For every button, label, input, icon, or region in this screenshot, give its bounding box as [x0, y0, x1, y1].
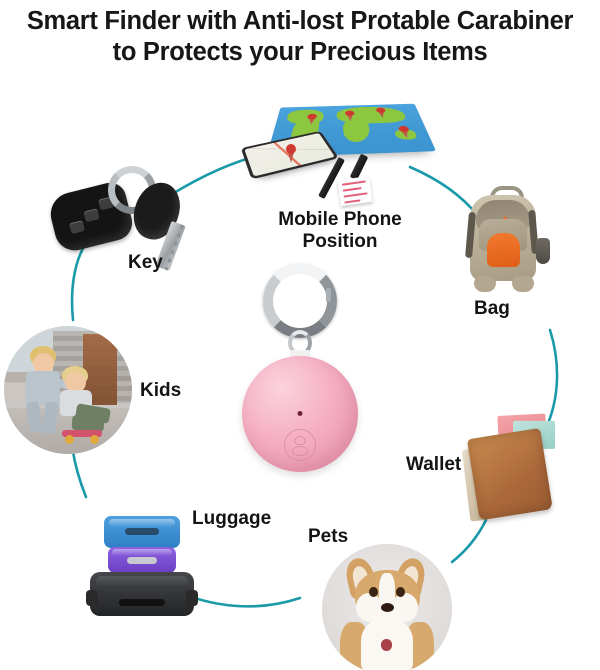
suitcase-purple — [108, 547, 176, 573]
label-line-1: Mobile Phone — [278, 209, 402, 230]
wallet-body — [467, 428, 553, 521]
case-sheen — [109, 519, 176, 527]
tracker-body — [242, 356, 358, 472]
case-handle — [125, 528, 158, 535]
skateboard-wheel — [90, 435, 99, 444]
case-sheen — [96, 576, 188, 587]
label-luggage: Luggage — [192, 508, 271, 530]
case-handle — [127, 557, 157, 564]
wallet-illustration — [464, 410, 569, 527]
led-indicator — [298, 411, 303, 416]
note-line — [343, 187, 362, 192]
kid-leg — [25, 401, 43, 433]
node-luggage: Luggage — [88, 500, 288, 630]
kid-body — [26, 371, 60, 405]
tracker-button[interactable] — [284, 429, 316, 461]
node-pets: Pets — [300, 512, 500, 670]
note-line — [344, 199, 360, 203]
luggage-wheel — [186, 590, 198, 606]
backpack-side-pocket — [536, 238, 550, 264]
suitcase-blue — [104, 516, 180, 548]
infographic-page: Smart Finder with Anti-lost Protable Car… — [0, 0, 600, 670]
note-line — [344, 192, 368, 197]
node-key: Key — [40, 160, 215, 270]
backpack-orange-pocket — [487, 233, 520, 267]
case-sheen — [112, 549, 172, 556]
label-line-2: Position — [303, 231, 378, 252]
luggage-wheel — [86, 590, 98, 606]
node-mobile-phone-position: Mobile Phone Position — [243, 82, 428, 252]
backpack-foot-left — [474, 276, 496, 292]
smart-tracker-product — [242, 264, 358, 474]
corgi-eye-left — [369, 587, 378, 597]
carabiner-ring — [263, 264, 337, 338]
key-fob-button — [83, 208, 99, 222]
node-kids: Kids — [4, 326, 194, 466]
node-bag: Bag — [462, 186, 572, 326]
kids-photo — [4, 326, 132, 454]
backpack — [462, 186, 548, 290]
note-line — [342, 180, 366, 185]
label-mobile-phone-position: Mobile Phone Position — [265, 209, 415, 253]
kid-sitting — [56, 366, 118, 438]
corgi-dog — [322, 544, 452, 670]
case-handle — [119, 599, 165, 606]
corgi-nose — [381, 603, 394, 612]
suitcase-black — [90, 572, 194, 616]
backpack-foot-right — [512, 276, 534, 292]
node-wallet: Wallet — [406, 416, 596, 526]
luggage-stack — [88, 516, 208, 626]
label-kids: Kids — [140, 380, 181, 402]
label-key: Key — [128, 252, 163, 274]
label-wallet: Wallet — [406, 454, 461, 476]
label-bag: Bag — [474, 298, 510, 320]
skateboard-wheel — [65, 435, 74, 444]
corgi-collar-tag — [381, 639, 393, 651]
pets-photo — [322, 544, 452, 670]
key-fob-button — [69, 220, 85, 234]
sticky-note — [337, 176, 372, 206]
